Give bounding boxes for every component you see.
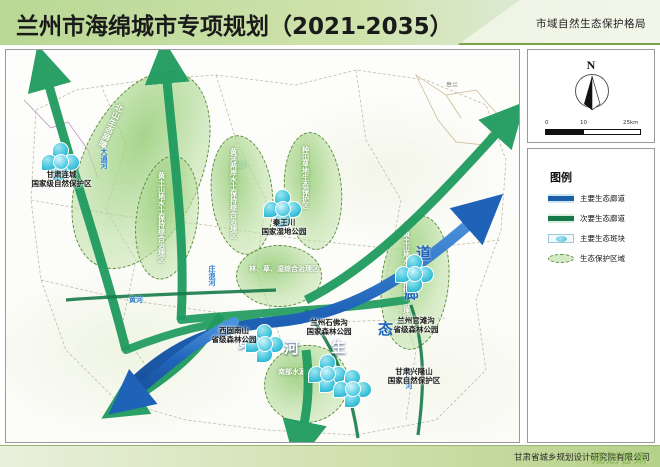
legend-list: 主要生态廊道 次要生态廊道 主要生态斑块 生态保护区域 [548, 191, 652, 271]
map-page: 兰州市海绵城市专项规划（2021-2035） 市域自然生态保护格局 [0, 0, 660, 467]
legend-label: 次要生态廊道 [580, 213, 625, 224]
page-title: 兰州市海绵城市专项规划（2021-2035） [16, 7, 453, 41]
river-label: 黄河 [129, 295, 143, 305]
legend-item[interactable]: 次要生态廊道 [548, 211, 652, 225]
watermark: 规划甘肃 [592, 448, 648, 467]
legend-item[interactable]: 主要生态斑块 [548, 231, 652, 245]
site-label: 兰州石佛沟 国家森林公园 [283, 318, 375, 336]
river-label: 大通河 [99, 148, 109, 169]
scale-bar: 0 10 25km [545, 120, 641, 135]
corridor-char: 生 [331, 336, 346, 357]
site-label: 兰州官滩沟 省级森林公园 [370, 316, 462, 334]
legend-swatch-secondary-corridor [548, 214, 574, 223]
site-label: 西固南山 省级森林公园 [188, 326, 280, 344]
legend-item[interactable]: 生态保护区域 [548, 251, 652, 265]
map-canvas[interactable]: 北山生态屏障 黄土山地水土保持综合治理区 黄河两岸水土保持综合治理区 种田草地生… [5, 49, 520, 443]
legend-swatch-protection-area [548, 254, 574, 263]
legend-item[interactable]: 主要生态廊道 [548, 191, 652, 205]
legend-label: 主要生态廊道 [580, 193, 625, 204]
site-label: 秦王川 国家湿地公园 [238, 218, 330, 236]
scale-tick: 25km [623, 120, 639, 126]
scale-tick: 10 [580, 120, 587, 126]
legend-label: 生态保护区域 [580, 253, 625, 264]
river-label: 庄浪河 [207, 265, 217, 286]
title-bar: 兰州市海绵城市专项规划（2021-2035） 市域自然生态保护格局 [0, 0, 660, 45]
legend-label: 主要生态斑块 [580, 233, 625, 244]
legend-swatch-eco-patch [548, 234, 574, 243]
legend-swatch-main-corridor [548, 194, 574, 203]
legend-title: 图例 [550, 169, 572, 185]
site-marker-rosette[interactable] [396, 255, 434, 293]
footer-bar: 甘肃省城乡规划设计研究院有限公司 规划甘肃 [0, 445, 660, 467]
corridor-char: 河 [284, 337, 299, 358]
site-label: 甘肃兴隆山 国家自然保护区 [364, 367, 464, 385]
place-label: 皋兰 [446, 80, 458, 89]
page-subtitle: 市域自然生态保护格局 [536, 16, 646, 31]
site-label: 甘肃连城 国家级自然保护区 [14, 170, 109, 188]
compass-scale-panel: N 0 10 25km [527, 49, 655, 143]
scale-tick: 0 [545, 120, 549, 126]
legend-panel: 图例 主要生态廊道 次要生态廊道 主要生态斑块 生态保护区域 [527, 148, 655, 443]
